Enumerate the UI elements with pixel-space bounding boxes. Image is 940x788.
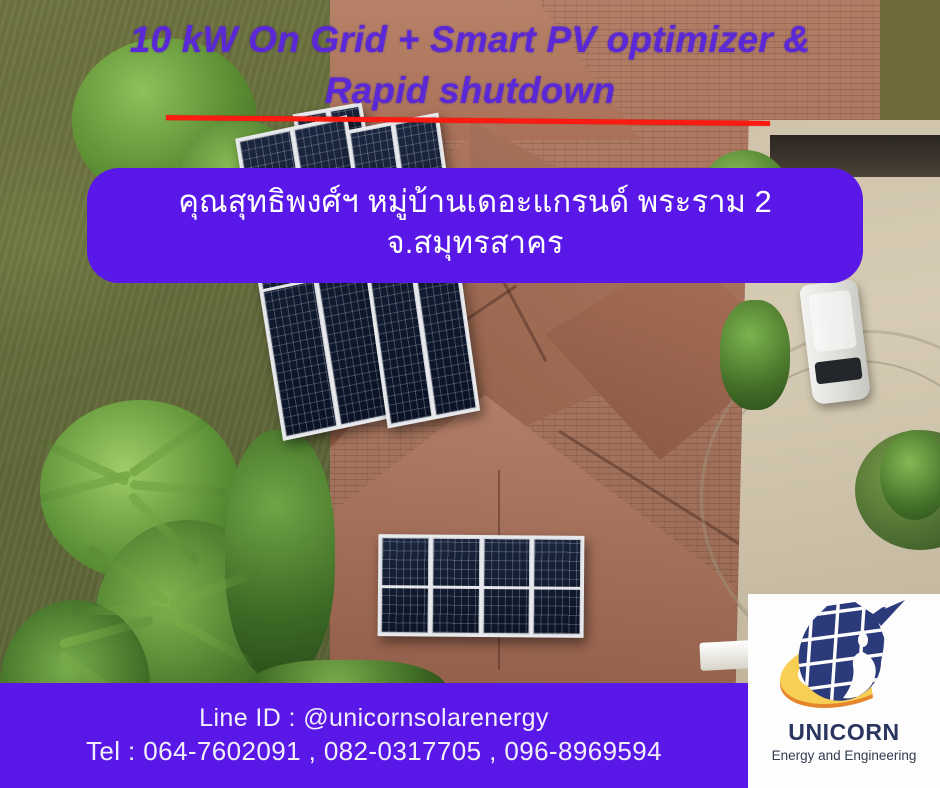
- contact-footer: Line ID : @unicornsolarenergy Tel : 064-…: [0, 683, 748, 788]
- palm-frond: [72, 606, 168, 615]
- solar-panel-array-lower-center: [378, 534, 585, 638]
- line-id-text[interactable]: Line ID : @unicornsolarenergy: [199, 704, 549, 733]
- address-banner: คุณสุทธิพงศ์ฯ หมู่บ้านเดอะแกรนด์ พระราม …: [87, 168, 863, 283]
- headline-line-1: 10 kW On Grid + Smart PV optimizer &: [60, 14, 880, 65]
- headline-line-2: Rapid shutdown: [60, 65, 880, 116]
- hedge-row: [225, 430, 335, 680]
- unicorn-solar-panel-icon: [769, 600, 919, 718]
- page-title: 10 kW On Grid + Smart PV optimizer & Rap…: [0, 14, 940, 116]
- address-line-2: จ.สมุทรสาคร: [387, 223, 564, 264]
- company-logo-card: UNICORN Energy and Engineering: [748, 594, 940, 788]
- van-roof: [808, 290, 857, 353]
- solar-installation-poster: 10 kW On Grid + Smart PV optimizer & Rap…: [0, 0, 940, 788]
- logo-company-name: UNICORN: [788, 719, 900, 746]
- address-line-1: คุณสุทธิพงศ์ฯ หมู่บ้านเดอะแกรนด์ พระราม …: [178, 182, 772, 223]
- shrub: [720, 300, 790, 410]
- telephone-text[interactable]: Tel : 064-7602091 , 082-0317705 , 096-89…: [86, 737, 662, 767]
- logo-tagline: Energy and Engineering: [772, 748, 917, 763]
